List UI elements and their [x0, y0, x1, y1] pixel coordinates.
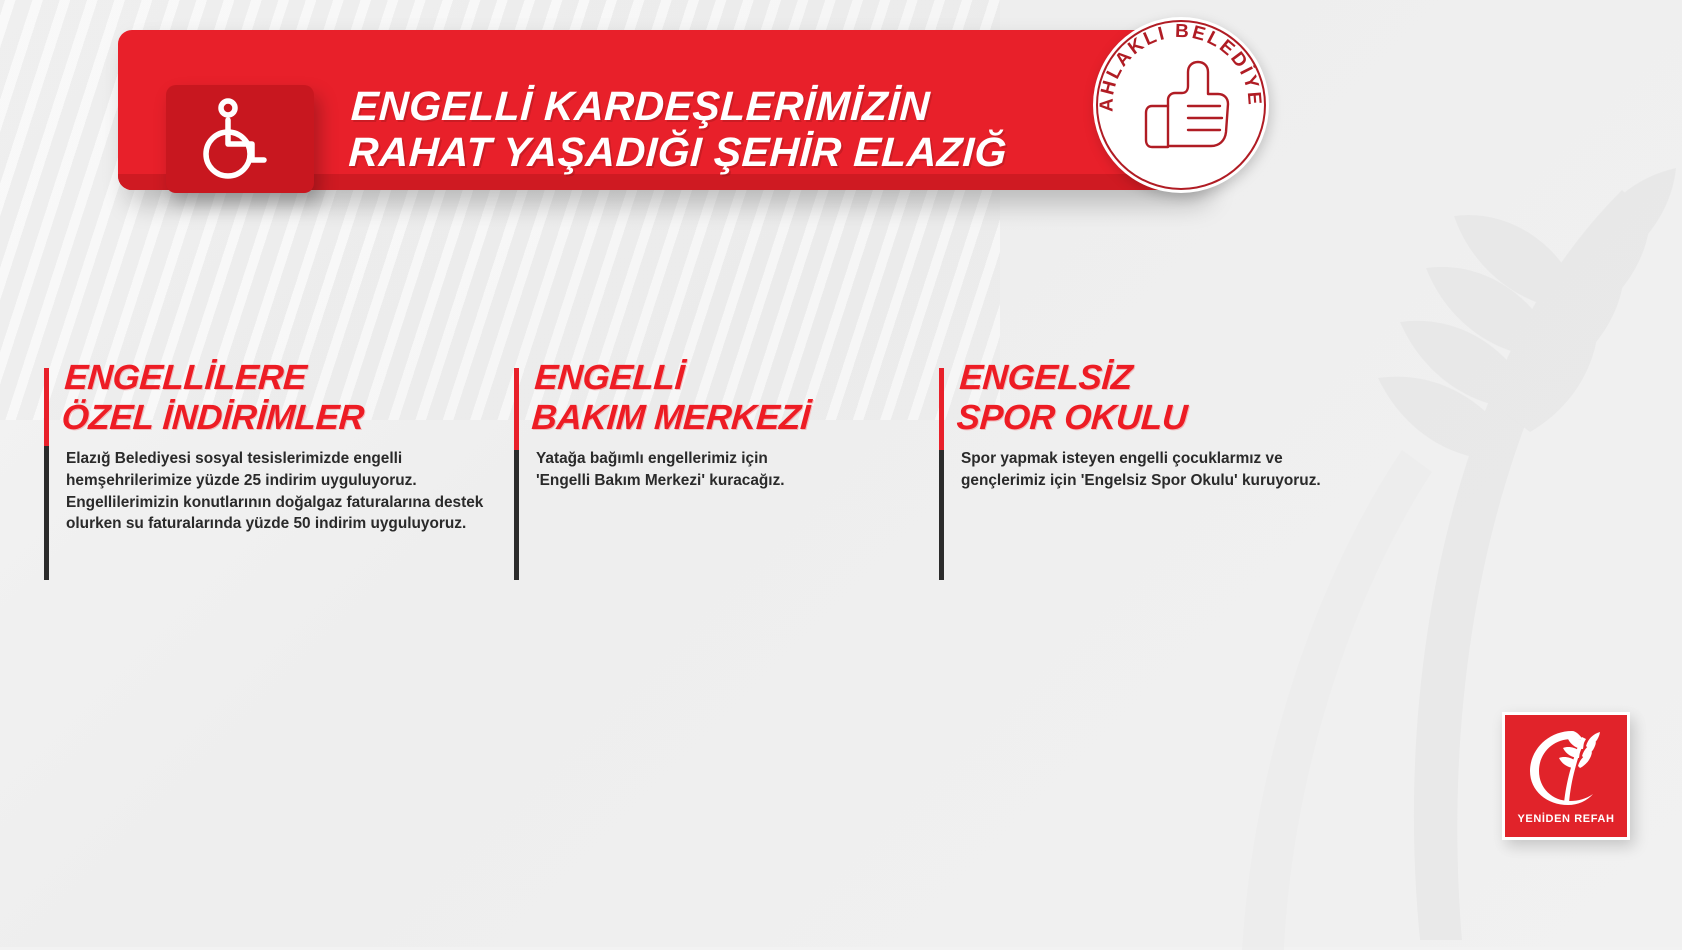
column-body-text: Yatağa bağımlı engellerimiz için 'Engell… — [536, 448, 876, 492]
crescent-and-wheat-icon — [1520, 727, 1612, 807]
wheelchair-accessibility-icon — [166, 85, 314, 193]
column-engelli-bakim-merkezi: ENGELLİ BAKIM MERKEZİ Yatağa bağımlı eng… — [514, 358, 939, 535]
content-columns: ENGELLİLERE ÖZEL İNDİRİMLER Elazığ Beled… — [44, 358, 1444, 535]
column-accent-rule — [939, 368, 944, 580]
column-body-text: Elazığ Belediyesi sosyal tesislerimizde … — [66, 448, 486, 536]
column-body-text: Spor yapmak isteyen engelli çocuklarmız … — [961, 448, 1361, 492]
party-logo: YENİDEN REFAH — [1502, 712, 1630, 840]
column-accent-rule — [44, 368, 49, 580]
column-accent-rule — [514, 368, 519, 580]
header-banner: ENGELLİ KARDEŞLERİMİZİN RAHAT YAŞADIĞI Ş… — [118, 30, 1200, 190]
column-title: ENGELSİZ SPOR OKULU — [955, 358, 1409, 438]
column-title: ENGELLİLERE ÖZEL İNDİRİMLER — [60, 358, 514, 438]
column-engellilere-ozel-indirimler: ENGELLİLERE ÖZEL İNDİRİMLER Elazığ Beled… — [44, 358, 514, 535]
party-name: YENİDEN REFAH — [1517, 813, 1614, 825]
column-title: ENGELLİ BAKIM MERKEZİ — [530, 358, 939, 438]
page-title: ENGELLİ KARDEŞLERİMİZİN RAHAT YAŞADIĞI Ş… — [348, 84, 1011, 176]
column-engelsiz-spor-okulu: ENGELSİZ SPOR OKULU Spor yapmak isteyen … — [939, 358, 1409, 535]
ahlakli-belediyecilik-stamp: AHLAKLI BELEDİYECİLİK — [1090, 14, 1272, 196]
